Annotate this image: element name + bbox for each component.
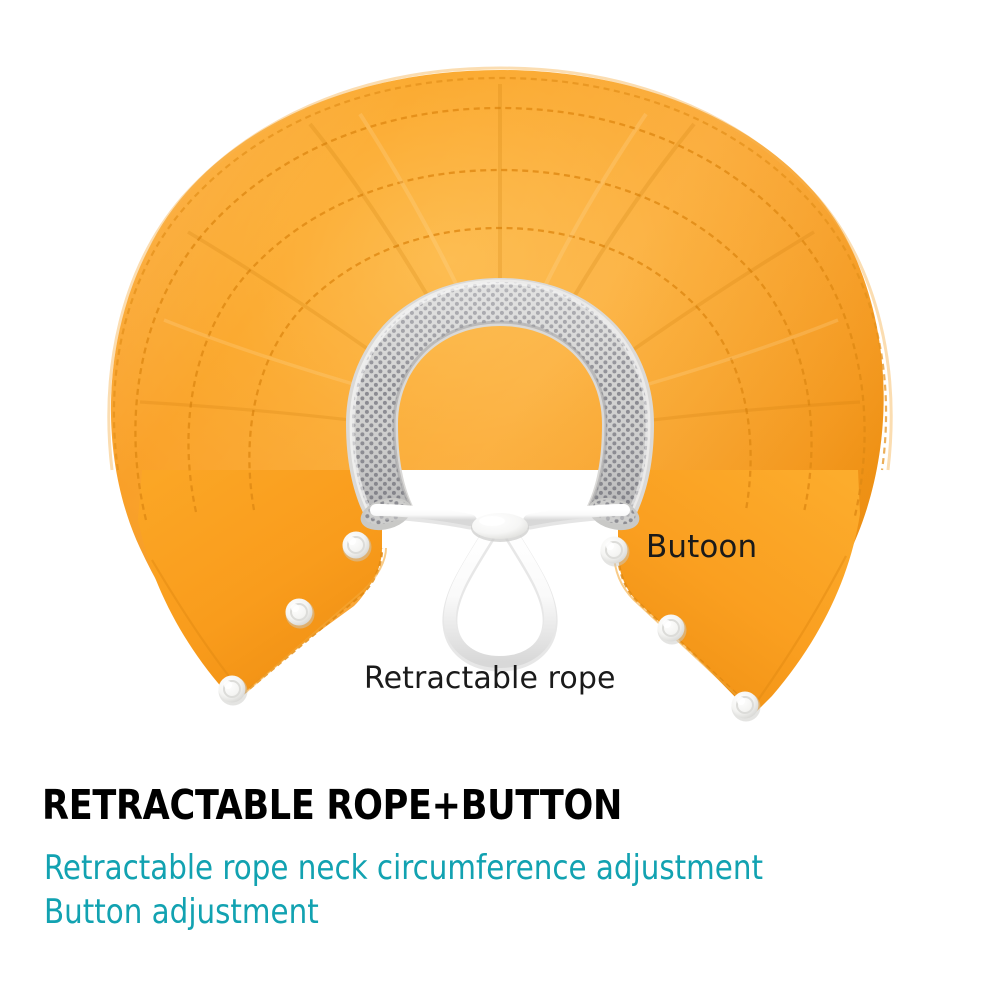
left-flap [138,470,386,700]
product-photo: Butoon Retractable rope [0,0,1000,770]
subtitle-block: Retractable rope neck circumference adju… [44,847,946,935]
callout-label-retractable-rope: Retractable rope [364,661,616,696]
subtitle-line-1: Retractable rope neck circumference adju… [44,847,946,891]
right-flap [614,470,860,712]
caption-block: RETRACTABLE ROPE+BUTTON Retractable rope… [0,770,1000,1000]
headline-text: RETRACTABLE ROPE+BUTTON [42,781,622,829]
retractable-rope [376,510,624,664]
callout-label-button: Butoon [646,529,757,565]
subtitle-line-2: Button adjustment [44,891,946,935]
product-feature-page: Butoon Retractable rope RETRACTABLE ROPE… [0,0,1000,1000]
product-illustration [0,0,1000,770]
